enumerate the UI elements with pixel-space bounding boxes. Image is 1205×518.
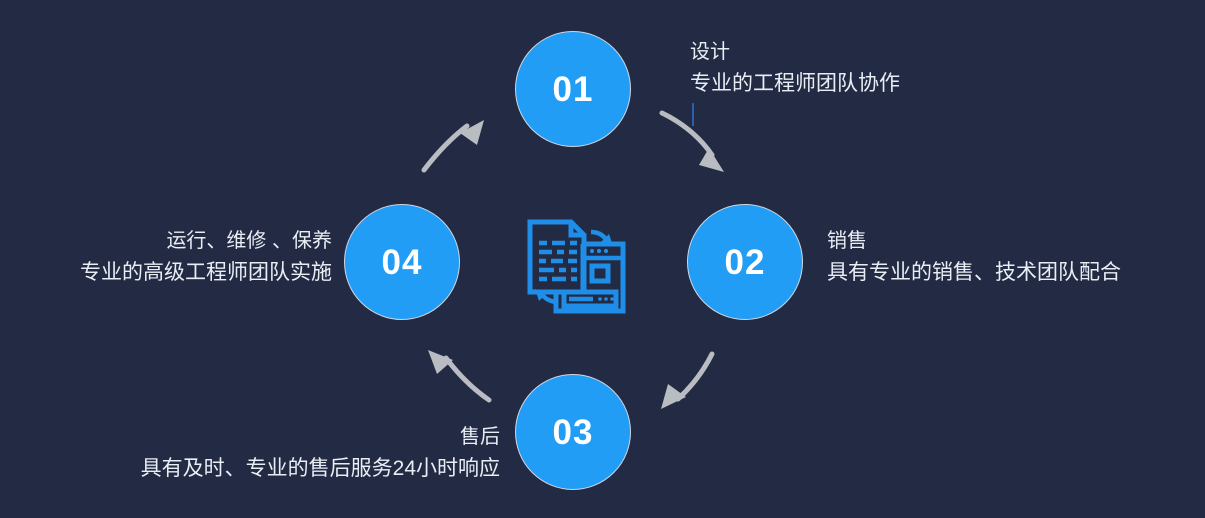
step-circle-04[interactable]: 04 [344, 204, 460, 320]
step-description-04: 专业的高级工程师团队实施 [80, 258, 332, 288]
step-label-04: 运行、维修 、保养 专业的高级工程师团队实施 [80, 227, 332, 288]
step-description-01: 专业的工程师团队协作 [690, 69, 900, 99]
document-browser-sync-icon [530, 222, 623, 311]
step-label-02: 销售 具有专业的销售、技术团队配合 [827, 227, 1121, 288]
step-label-01: 设计 专业的工程师团队协作 [690, 38, 900, 99]
step-number-01: 01 [553, 72, 594, 107]
step-title-03: 售后 [141, 423, 500, 452]
arrow-02-to-03 [661, 354, 712, 409]
arrow-04-to-01 [424, 120, 484, 170]
step-number-03: 03 [553, 415, 594, 450]
step-circle-02[interactable]: 02 [687, 204, 803, 320]
step-title-01: 设计 [690, 38, 900, 67]
step-title-04: 运行、维修 、保养 [80, 227, 332, 256]
step-label-03: 售后 具有及时、专业的售后服务24小时响应 [141, 423, 500, 484]
step-circle-01[interactable]: 01 [515, 31, 631, 147]
arrow-01-to-02 [662, 113, 724, 172]
step-number-04: 04 [382, 245, 423, 280]
step-title-02: 销售 [827, 227, 1121, 256]
arrow-03-to-04 [428, 350, 489, 400]
diagram-canvas: 01 02 03 04 设计 专业的工程师团队协作 销售 具有专业的销售、技术团… [0, 0, 1205, 518]
step-description-02: 具有专业的销售、技术团队配合 [827, 258, 1121, 288]
step-description-03: 具有及时、专业的售后服务24小时响应 [141, 454, 500, 484]
step-circle-03[interactable]: 03 [515, 374, 631, 490]
step-number-02: 02 [725, 245, 766, 280]
